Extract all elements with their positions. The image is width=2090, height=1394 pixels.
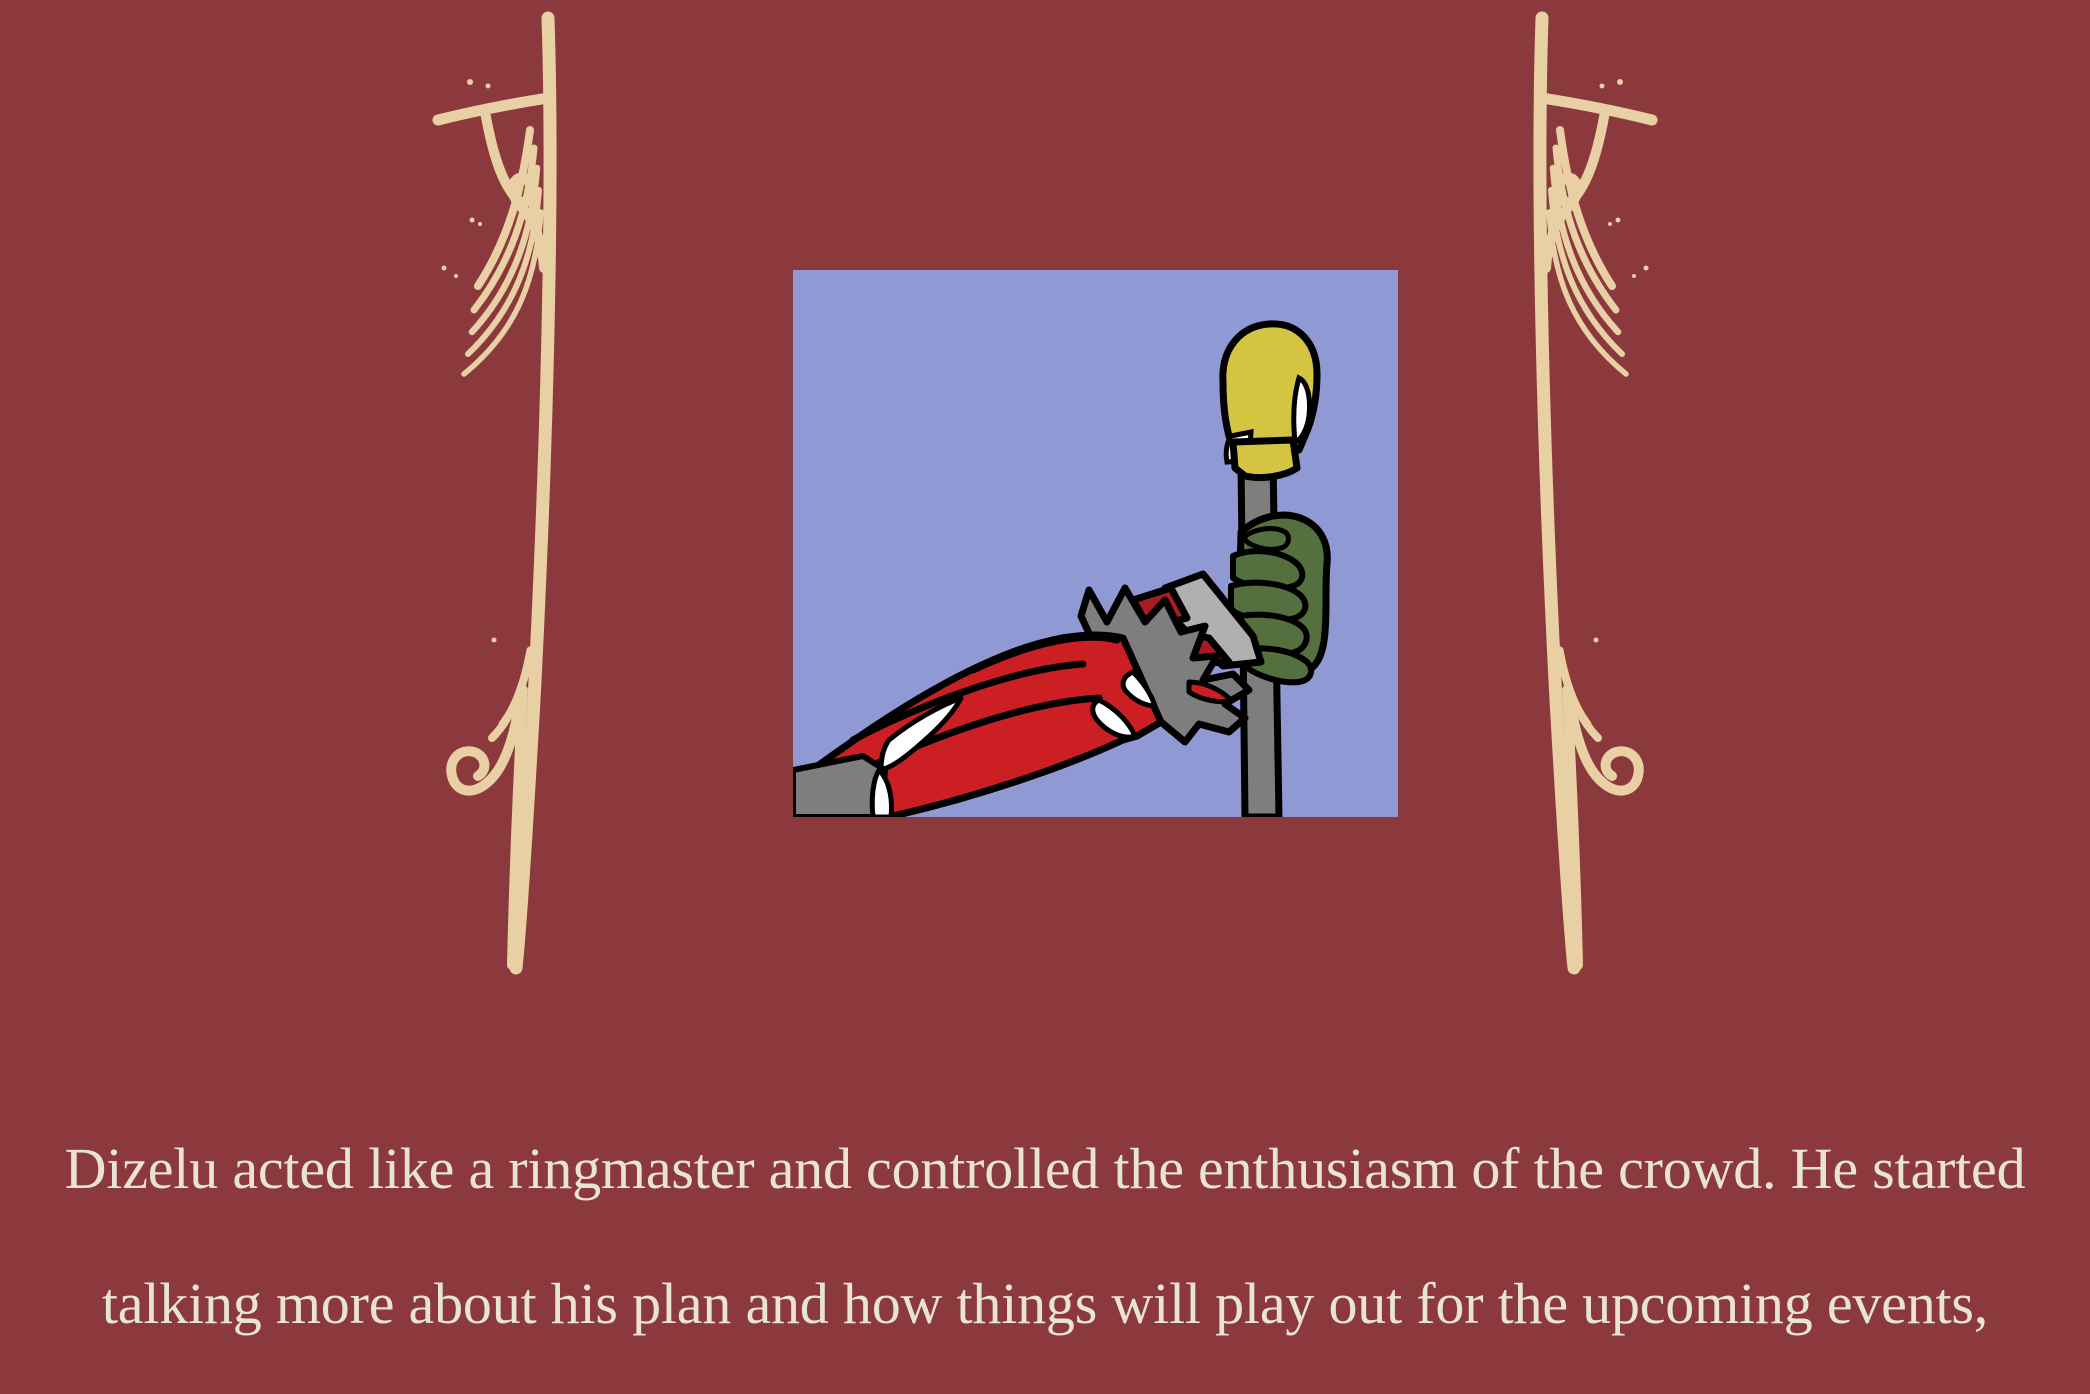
ornament-speckles [442, 79, 497, 643]
left-border-flourish [430, 0, 790, 1060]
ornament-speckles [1594, 79, 1649, 643]
page-caption: Dizelu acted like a ringmaster and contr… [55, 1068, 2035, 1394]
story-page: Dizelu acted like a ringmaster and contr… [0, 0, 2090, 1394]
illustration-panel [793, 270, 1398, 817]
caption-line-2: talking more about his plan and how thin… [55, 1270, 2035, 1337]
caption-line-1: Dizelu acted like a ringmaster and contr… [55, 1135, 2035, 1202]
